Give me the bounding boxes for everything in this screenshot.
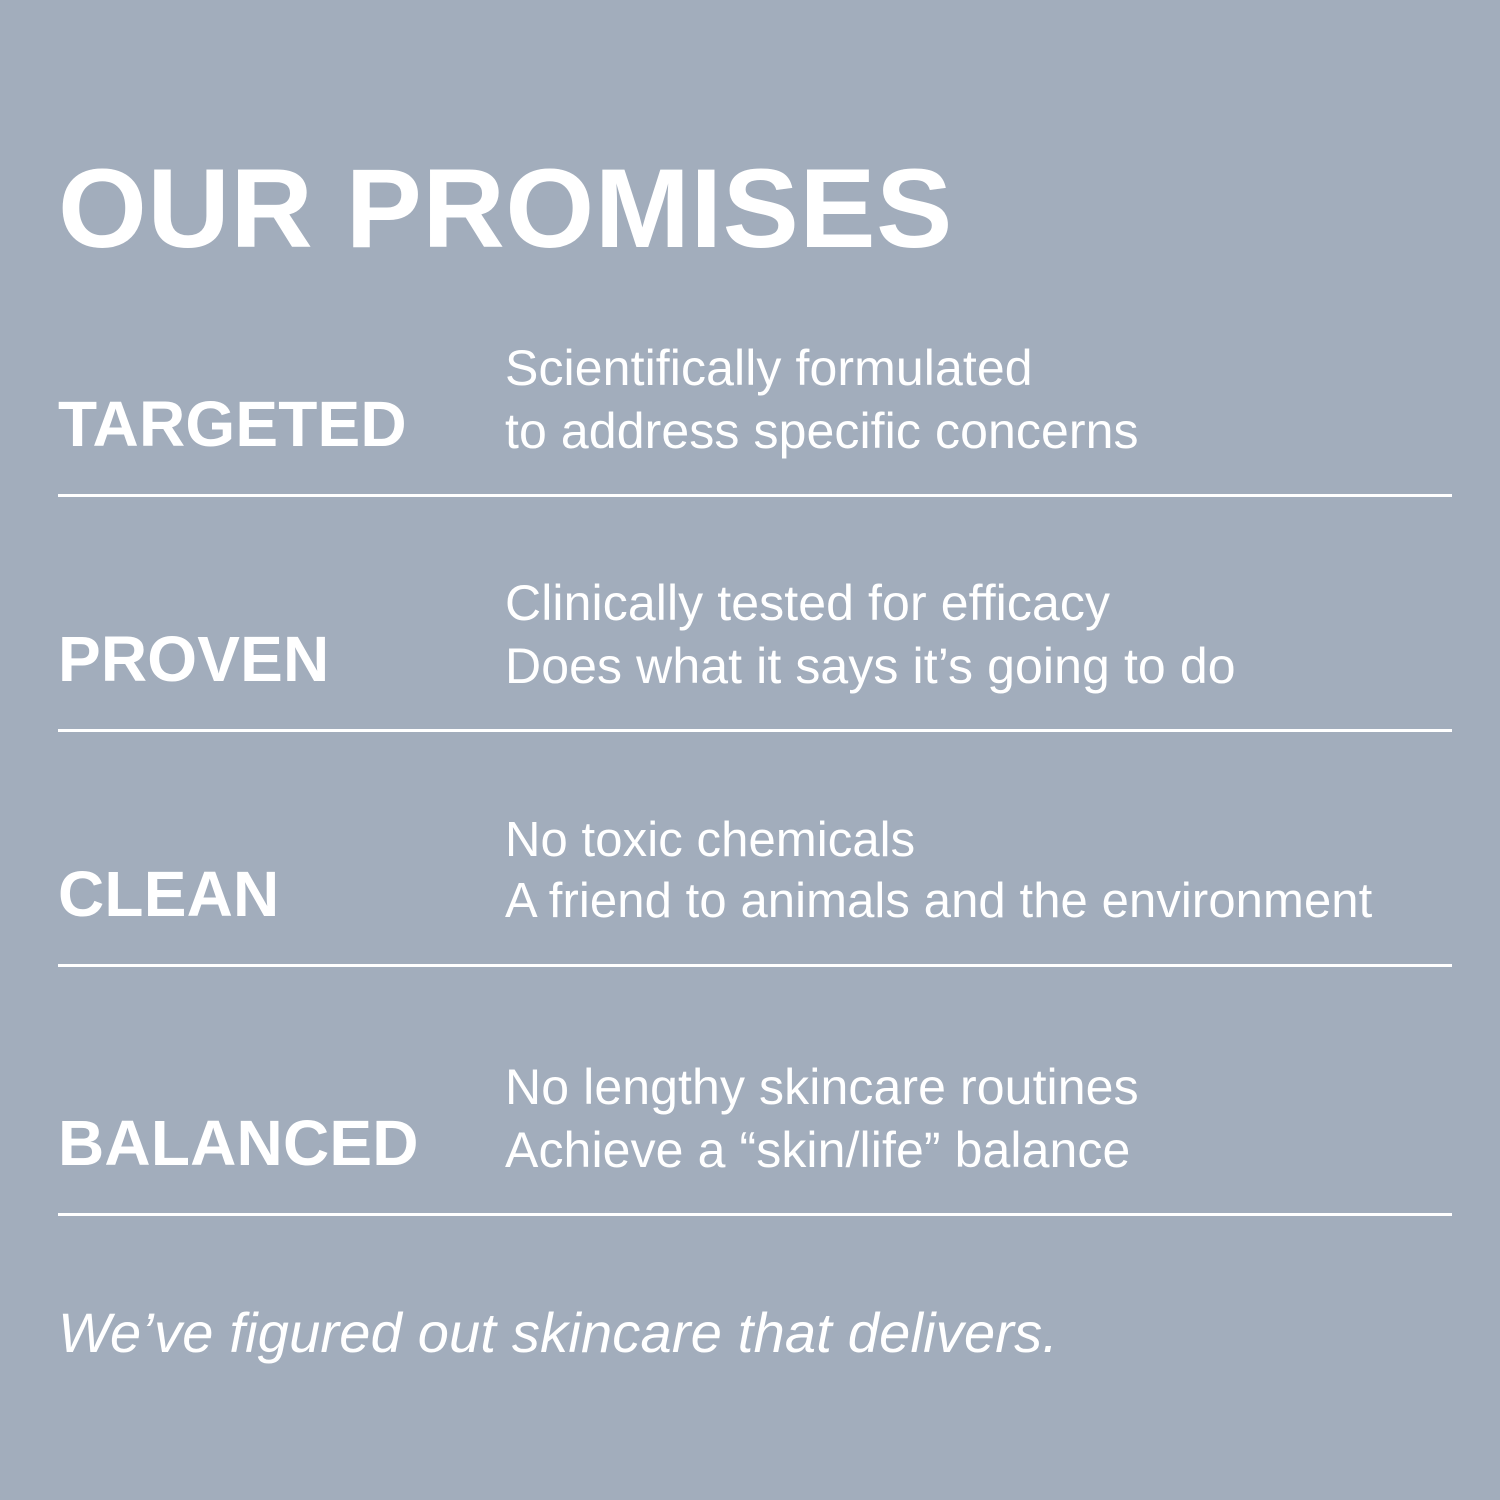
promise-description-line-2: A friend to animals and the environment bbox=[505, 871, 1452, 932]
promise-term-clean: CLEAN bbox=[58, 862, 505, 964]
promise-description-line-1: Clinically tested for efficacy bbox=[505, 572, 1452, 635]
promise-description-line-1: No toxic chemicals bbox=[505, 810, 1452, 871]
promise-term-targeted: TARGETED bbox=[58, 392, 505, 494]
promise-row-proven: PROVEN Clinically tested for efficacy Do… bbox=[58, 497, 1452, 732]
page-title: OUR PROMISES bbox=[58, 153, 953, 265]
promise-description-line-1: No lengthy skincare routines bbox=[505, 1056, 1452, 1119]
promise-term-balanced: BALANCED bbox=[58, 1111, 505, 1213]
our-promises-poster: OUR PROMISES TARGETED Scientifically for… bbox=[0, 0, 1500, 1500]
promise-description-proven: Clinically tested for efficacy Does what… bbox=[505, 572, 1452, 729]
promise-row-targeted: TARGETED Scientifically formulated to ad… bbox=[58, 262, 1452, 497]
promise-description-clean: No toxic chemicals A friend to animals a… bbox=[505, 810, 1452, 965]
promise-row-balanced: BALANCED No lengthy skincare routines Ac… bbox=[58, 967, 1452, 1216]
promise-row-clean: CLEAN No toxic chemicals A friend to ani… bbox=[58, 732, 1452, 967]
promise-description-line-1: Scientifically formulated bbox=[505, 337, 1452, 400]
footer-tagline: We’ve figured out skincare that delivers… bbox=[58, 1300, 1058, 1365]
promise-description-balanced: No lengthy skincare routines Achieve a “… bbox=[505, 1056, 1452, 1213]
promise-description-targeted: Scientifically formulated to address spe… bbox=[505, 337, 1452, 494]
promise-description-line-2: Achieve a “skin/life” balance bbox=[505, 1119, 1452, 1182]
promise-term-proven: PROVEN bbox=[58, 627, 505, 729]
promise-list: TARGETED Scientifically formulated to ad… bbox=[58, 262, 1452, 1216]
promise-description-line-2: to address specific concerns bbox=[505, 400, 1452, 463]
promise-description-line-2: Does what it says it’s going to do bbox=[505, 635, 1452, 698]
